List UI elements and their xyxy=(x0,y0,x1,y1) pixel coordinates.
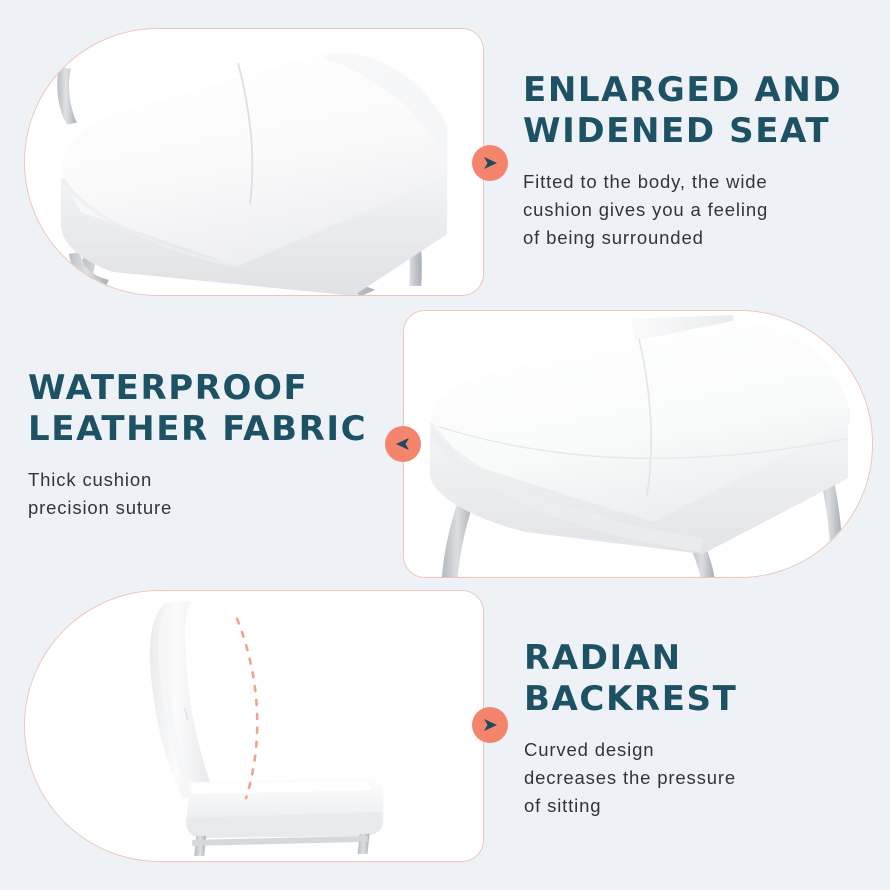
feature-image-panel-backrest xyxy=(24,590,484,862)
feature-body-fabric: Thick cushion precision suture xyxy=(28,466,388,522)
heading-line: RADIAN xyxy=(524,638,854,679)
arrow-left-icon-fabric xyxy=(385,426,421,462)
arrow-right-icon-seat xyxy=(472,145,508,181)
leather-fabric-photo xyxy=(404,311,872,578)
feature-body-seat: Fitted to the body, the wide cushion giv… xyxy=(523,168,868,252)
body-line: of sitting xyxy=(524,792,854,820)
backrest-profile-photo xyxy=(25,591,483,862)
seat-cushion-photo xyxy=(25,29,483,296)
heading-line: BACKREST xyxy=(524,679,854,720)
heading-line: WATERPROOF xyxy=(28,368,388,409)
feature-body-backrest: Curved design decreases the pressure of … xyxy=(524,736,854,820)
body-line: cushion gives you a feeling xyxy=(523,196,868,224)
feature-image-panel-seat xyxy=(24,28,484,296)
body-line: Curved design xyxy=(524,736,854,764)
body-line: decreases the pressure xyxy=(524,764,854,792)
feature-text-fabric: WATERPROOF LEATHER FABRIC Thick cushion … xyxy=(28,368,388,522)
body-line: precision suture xyxy=(28,494,388,522)
feature-heading-seat: ENLARGED AND WIDENED SEAT xyxy=(523,70,868,152)
feature-heading-fabric: WATERPROOF LEATHER FABRIC xyxy=(28,368,388,450)
heading-line: ENLARGED AND xyxy=(523,70,868,111)
feature-image-panel-fabric xyxy=(403,310,873,578)
body-line: Fitted to the body, the wide xyxy=(523,168,868,196)
arrow-right-icon-backrest xyxy=(472,707,508,743)
heading-line: LEATHER FABRIC xyxy=(28,409,388,450)
feature-heading-backrest: RADIAN BACKREST xyxy=(524,638,854,720)
feature-text-backrest: RADIAN BACKREST Curved design decreases … xyxy=(524,638,854,820)
feature-text-seat: ENLARGED AND WIDENED SEAT Fitted to the … xyxy=(523,70,868,252)
body-line: Thick cushion xyxy=(28,466,388,494)
body-line: of being surrounded xyxy=(523,224,868,252)
heading-line: WIDENED SEAT xyxy=(523,111,868,152)
infographic-stage: ENLARGED AND WIDENED SEAT Fitted to the … xyxy=(0,0,890,890)
